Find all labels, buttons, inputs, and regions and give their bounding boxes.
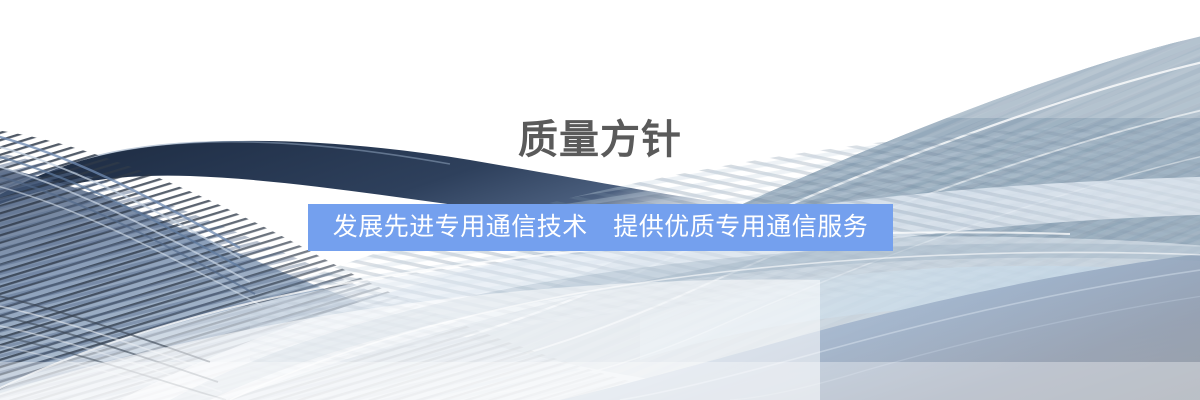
- slogan-banner: 发展先进专用通信技术 提供优质专用通信服务: [308, 204, 893, 251]
- page-title: 质量方针: [0, 118, 1200, 162]
- slogan-text: 发展先进专用通信技术 提供优质专用通信服务: [333, 214, 869, 241]
- quality-policy-banner: 质量方针 发展先进专用通信技术 提供优质专用通信服务: [0, 0, 1200, 400]
